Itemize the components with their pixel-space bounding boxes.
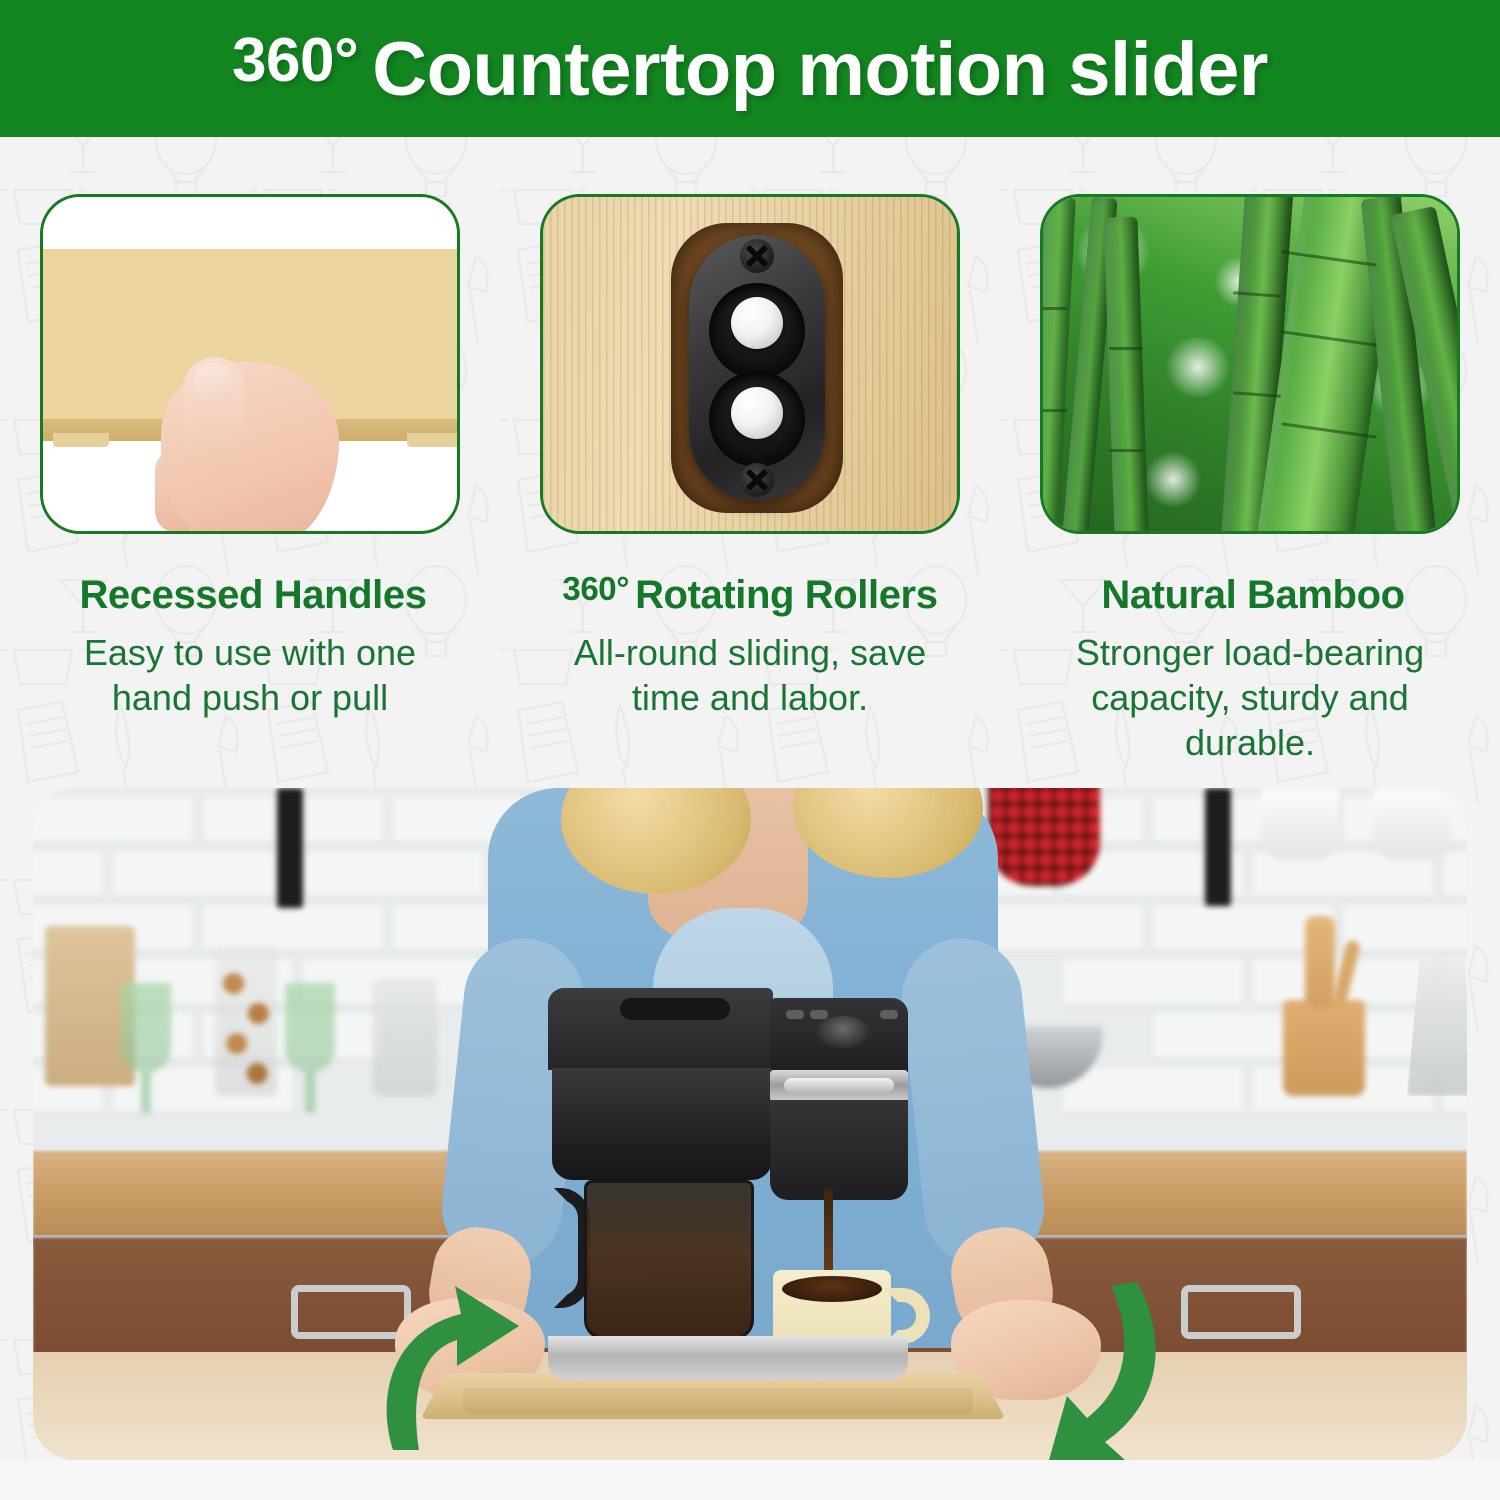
shelf-bracket — [277, 788, 303, 908]
wine-glass — [285, 983, 335, 1073]
phillips-screw-icon — [740, 463, 774, 497]
page-title: 360°Countertop motion slider — [232, 25, 1268, 113]
feature-title-text: Recessed Handles — [79, 573, 426, 617]
roller-ball-lower — [731, 387, 783, 439]
roller-ball-upper — [731, 297, 783, 349]
control-button[interactable] — [880, 1010, 898, 1019]
left-motion-arrow — [333, 1274, 533, 1454]
feature-title-degree: 360° — [562, 570, 635, 607]
control-dial[interactable] — [816, 1016, 870, 1048]
phillips-screw-icon — [740, 239, 774, 273]
coffee-maker — [548, 988, 908, 1388]
feature-natural-bamboo: Natural Bamboo Stronger load-bearing cap… — [1000, 137, 1500, 782]
bamboo-slider-board-edge — [463, 1388, 973, 1414]
feature-recessed-handles: Recessed Handles Easy to use with one ha… — [0, 137, 500, 782]
feature-title: 360°Rotating Rollers — [562, 570, 937, 618]
wooden-spatula — [1305, 916, 1335, 1008]
feature-rotating-rollers: 360°Rotating Rollers All-round sliding, … — [500, 137, 1000, 782]
feature-description: All-round sliding, save time and labor. — [540, 630, 960, 720]
header-banner: 360°Countertop motion slider — [0, 0, 1500, 137]
control-button[interactable] — [810, 1010, 828, 1019]
shelf-bracket — [1205, 788, 1231, 906]
bamboo-forest-photo — [1040, 194, 1460, 534]
bottom-background-fill — [0, 1460, 1500, 1500]
hanging-mug — [1373, 788, 1451, 860]
feature-title: Recessed Handles — [73, 570, 426, 618]
glass-carafe — [584, 1180, 754, 1340]
lifestyle-kitchen-coffee-maker-photo — [33, 788, 1467, 1460]
wine-glass-stem — [141, 1071, 151, 1113]
page-title-text: Countertop motion slider — [372, 27, 1268, 112]
wine-glass-stem — [305, 1071, 315, 1113]
rotating-roller-closeup-photo — [540, 194, 960, 534]
feature-row: Recessed Handles Easy to use with one ha… — [0, 137, 1500, 782]
product-infographic-page: 360°Countertop motion slider Recessed — [0, 0, 1500, 1500]
feature-description: Easy to use with one hand push or pull — [40, 630, 460, 720]
wine-glass — [121, 983, 171, 1073]
hanging-mug — [1261, 788, 1339, 860]
coffee-surface — [782, 1276, 882, 1302]
page-title-degree: 360° — [232, 26, 372, 95]
plaid-towel — [988, 788, 1100, 886]
bamboo-board-recessed-handle-photo — [40, 194, 460, 534]
coffee-maker-base — [548, 1336, 908, 1380]
feature-title-text: Natural Bamboo — [1101, 573, 1404, 617]
utensil-crock — [1283, 1000, 1365, 1096]
nut-jar — [215, 946, 277, 1096]
feature-title-text: Rotating Rollers — [635, 573, 938, 617]
control-button[interactable] — [786, 1010, 804, 1019]
feature-description: Stronger load-bearing capacity, sturdy a… — [1040, 630, 1460, 765]
glass-bottle — [373, 978, 437, 1096]
right-motion-arrow — [1001, 1274, 1201, 1460]
feature-title: Natural Bamboo — [1095, 570, 1404, 618]
